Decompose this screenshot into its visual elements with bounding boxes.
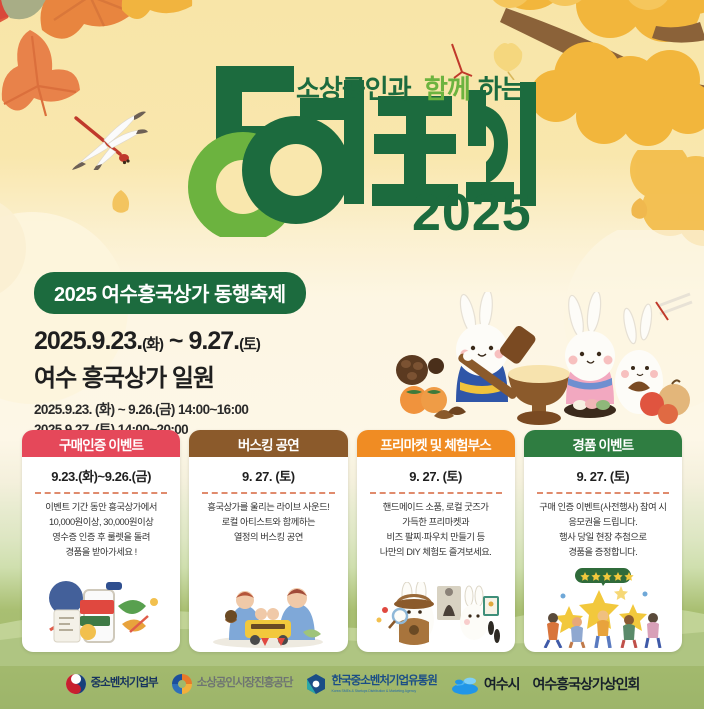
- arrow-icon: [656, 294, 692, 320]
- card-title-2: 버스킹 공연: [189, 430, 347, 457]
- date-end: 9.27.: [188, 327, 239, 355]
- event-card-busking[interactable]: 버스킹 공연 9. 27. (토) 흥국상가를 울리는 라이브 사운드! 로컬 …: [189, 430, 347, 652]
- card-body-2: 흥국상가를 울리는 라이브 사운드! 로컬 아티스트와 함께하는 열정의 버스킹…: [189, 500, 347, 545]
- date-start-day: (화): [142, 336, 163, 353]
- event-card-prize[interactable]: 경품 이벤트 9. 27. (토) 구매 인증 이벤트(사전행사) 참여 시 응…: [524, 430, 682, 652]
- date-tilde: ~: [169, 327, 183, 355]
- card-date-2: 9. 27. (토): [189, 457, 347, 492]
- logo-kosme-distribution: 한국중소벤처기업유통원 Korea SMEs & Startups Distri…: [305, 673, 436, 695]
- card-body-1: 이벤트 기간 동안 흥국상가에서 10,000원이상, 30,000원이상 영수…: [22, 500, 180, 560]
- card-date-4: 9. 27. (토): [524, 457, 682, 492]
- logo-sublabel-kosme: Korea SMEs & Startups Distribution & Mar…: [331, 689, 436, 693]
- logo-semas: 소상공인시장진흥공단: [171, 673, 293, 695]
- event-place: 여수 흥국상가 일원: [34, 358, 434, 393]
- taegeuk-icon: [65, 673, 87, 695]
- card-date-3: 9. 27. (토): [357, 457, 515, 492]
- event-title-pill: 2025 여수흥국상가 동행축제: [34, 272, 306, 314]
- card-divider-2: [202, 492, 334, 494]
- logo-label-stack-kosme: 한국중소벤처기업유통원 Korea SMEs & Startups Distri…: [331, 676, 436, 693]
- tagline-highlight: 함께: [424, 74, 470, 104]
- event-cards: 구매인증 이벤트 9.23.(화)~9.26.(금) 이벤트 기간 동안 흥국상…: [22, 430, 682, 652]
- date-start: 2025.9.23.: [34, 327, 142, 355]
- yeosu-wave-icon: [450, 673, 480, 695]
- event-info: 2025 여수흥국상가 동행축제 2025.9.23.(화) ~ 9.27.(토…: [34, 272, 434, 439]
- donghaeng-logo-icon: 소상공인과 함께 하는 2025: [0, 22, 704, 237]
- rabbit-middle: [565, 292, 615, 404]
- card-illustration-1: [22, 562, 180, 652]
- logo-label-kosme: 한국중소벤처기업유통원: [331, 676, 436, 688]
- hexagon-icon: [305, 673, 327, 695]
- tagline-part2: 하는: [478, 74, 525, 104]
- semas-swirl-icon: [171, 673, 193, 695]
- card-title-3: 프리마켓 및 체험부스: [357, 430, 515, 457]
- date-end-day: (토): [239, 336, 260, 353]
- festival-poster: 소상공인과 함께 하는 2025 2025 여수흥국상가 동행축제 2025.9…: [0, 0, 704, 709]
- hero-year: 2025: [412, 184, 532, 237]
- rabbit-mascot-illustration: [390, 292, 700, 432]
- card-illustration-2: [189, 547, 347, 652]
- event-date-range: 2025.9.23.(화) ~ 9.27.(토): [34, 327, 434, 356]
- card-divider-3: [370, 492, 502, 494]
- tagline-part1: 소상공인과: [296, 74, 412, 104]
- logo-label-heungguk: 여수흥국상가상인회: [532, 677, 639, 691]
- card-date-1: 9.23.(화)~9.26.(금): [22, 457, 180, 492]
- logo-label-semas: 소상공인시장진흥공단: [197, 678, 293, 690]
- card-body-3: 핸드메이드 소품, 로컬 굿즈가 가득한 프리마켓과 비즈 팔찌·파우치 만들기…: [357, 500, 515, 560]
- card-body-4: 구매 인증 이벤트(사전행사) 참여 시 응모권을 드립니다. 행사 당일 현장…: [524, 500, 682, 560]
- logo-ministry-of-smes: 중소벤처기업부: [65, 673, 158, 695]
- event-card-flea-market[interactable]: 프리마켓 및 체험부스 9. 27. (토) 핸드메이드 소품, 로컬 굿즈가 …: [357, 430, 515, 652]
- sponsor-footer: 중소벤처기업부 소상공인시장진흥공단 한국중소벤처기업유통원 Korea SME…: [0, 659, 704, 709]
- hero-title: 소상공인과 함께 하는 2025: [0, 22, 704, 237]
- card-illustration-4: [524, 562, 682, 652]
- card-title-4: 경품 이벤트: [524, 430, 682, 457]
- logo-label-ministry: 중소벤처기업부: [91, 678, 158, 690]
- logo-yeosu-city: 여수시: [450, 673, 520, 695]
- logo-label-yeosu: 여수시: [484, 677, 520, 691]
- logo-heungguk-merchants: 여수흥국상가상인회: [532, 677, 639, 691]
- five-stars-badge-icon: [575, 568, 634, 586]
- card-divider-1: [35, 492, 167, 494]
- event-time-line-1: 2025.9.23. (화) ~ 9.26.(금) 14:00~16:00: [34, 400, 434, 420]
- card-illustration-3: [357, 562, 515, 652]
- card-title-1: 구매인증 이벤트: [22, 430, 180, 457]
- event-card-purchase-verification[interactable]: 구매인증 이벤트 9.23.(화)~9.26.(금) 이벤트 기간 동안 흥국상…: [22, 430, 180, 652]
- card-divider-4: [537, 492, 669, 494]
